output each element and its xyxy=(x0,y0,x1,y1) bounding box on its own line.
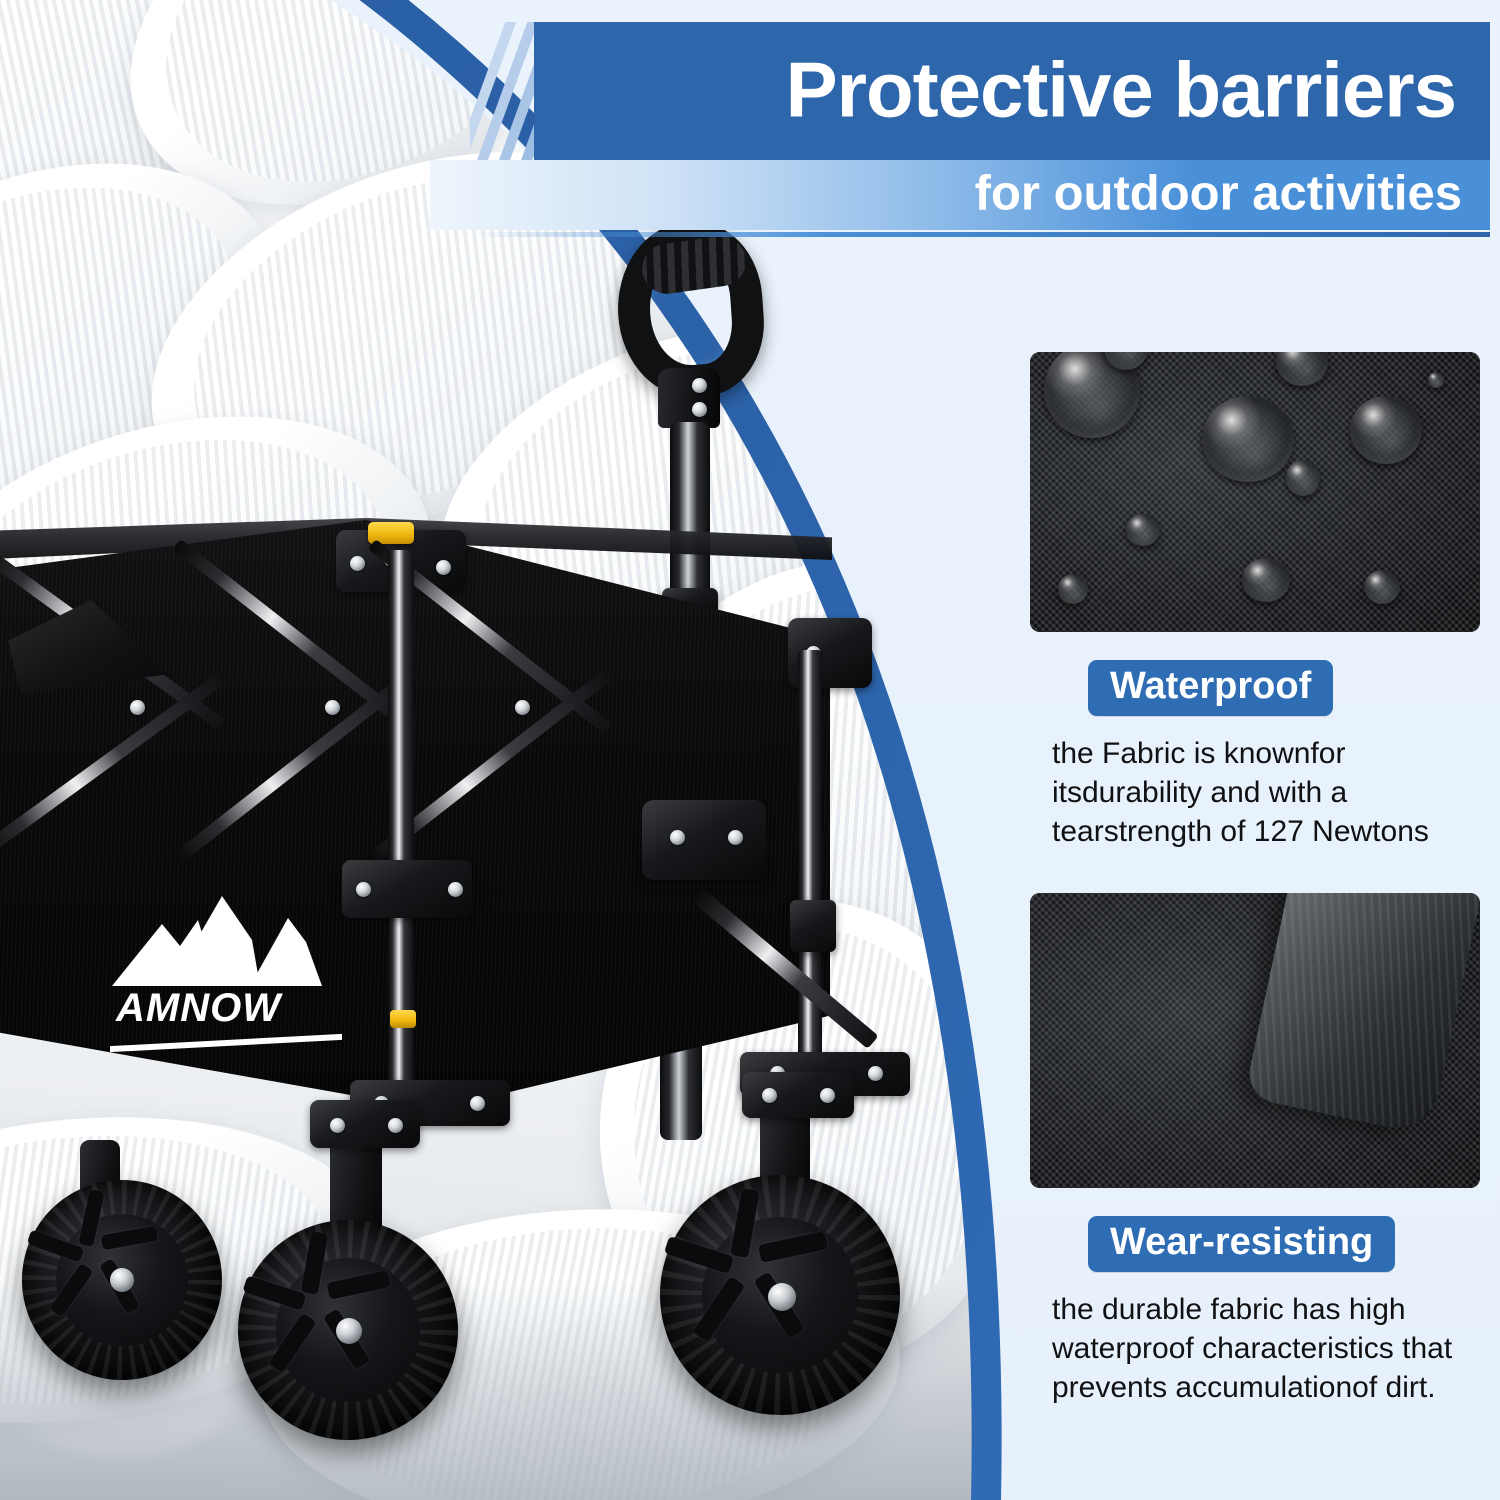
side-bracket xyxy=(790,900,836,952)
handle-neck xyxy=(658,368,720,428)
brand-logo: AMNOW xyxy=(110,890,360,1050)
feature-wear-resisting: Wear-resisting the durable fabric has hi… xyxy=(1030,893,1480,1407)
product-infographic: AMNOW xyxy=(0,0,1500,1500)
mountain-peaks-icon xyxy=(110,890,360,990)
caster-swivel xyxy=(742,1072,854,1118)
page-title: Protective barriers xyxy=(786,50,1456,128)
brand-name: AMNOW xyxy=(116,986,281,1031)
caster-swivel xyxy=(310,1100,420,1148)
feature-badge-wear-resisting: Wear-resisting xyxy=(1088,1216,1395,1272)
wagon-wheel xyxy=(22,1180,222,1380)
header-subtitle-band: for outdoor activities xyxy=(430,160,1490,230)
header-underline xyxy=(470,232,1490,237)
yellow-lock-tab xyxy=(390,1010,416,1028)
page-subtitle: for outdoor activities xyxy=(975,170,1462,219)
folding-wagon-product-image: AMNOW xyxy=(0,200,950,1490)
wagon-wheel xyxy=(238,1220,458,1440)
right-vertical-post xyxy=(798,650,822,1090)
feature-description-waterproof: the Fabric is knownfor itsdurability and… xyxy=(1052,734,1472,851)
header-title-band: Protective barriers xyxy=(534,22,1490,160)
feature-waterproof: Waterproof the Fabric is knownfor itsdur… xyxy=(1030,352,1480,851)
wagon-wheel xyxy=(660,1175,900,1415)
center-bracket-block xyxy=(642,800,766,880)
feature-description-wear-resisting: the durable fabric has high waterproof c… xyxy=(1052,1290,1472,1407)
wear-resisting-photo xyxy=(1030,893,1480,1188)
feature-badge-waterproof: Waterproof xyxy=(1088,660,1333,716)
waterproof-photo xyxy=(1030,352,1480,632)
